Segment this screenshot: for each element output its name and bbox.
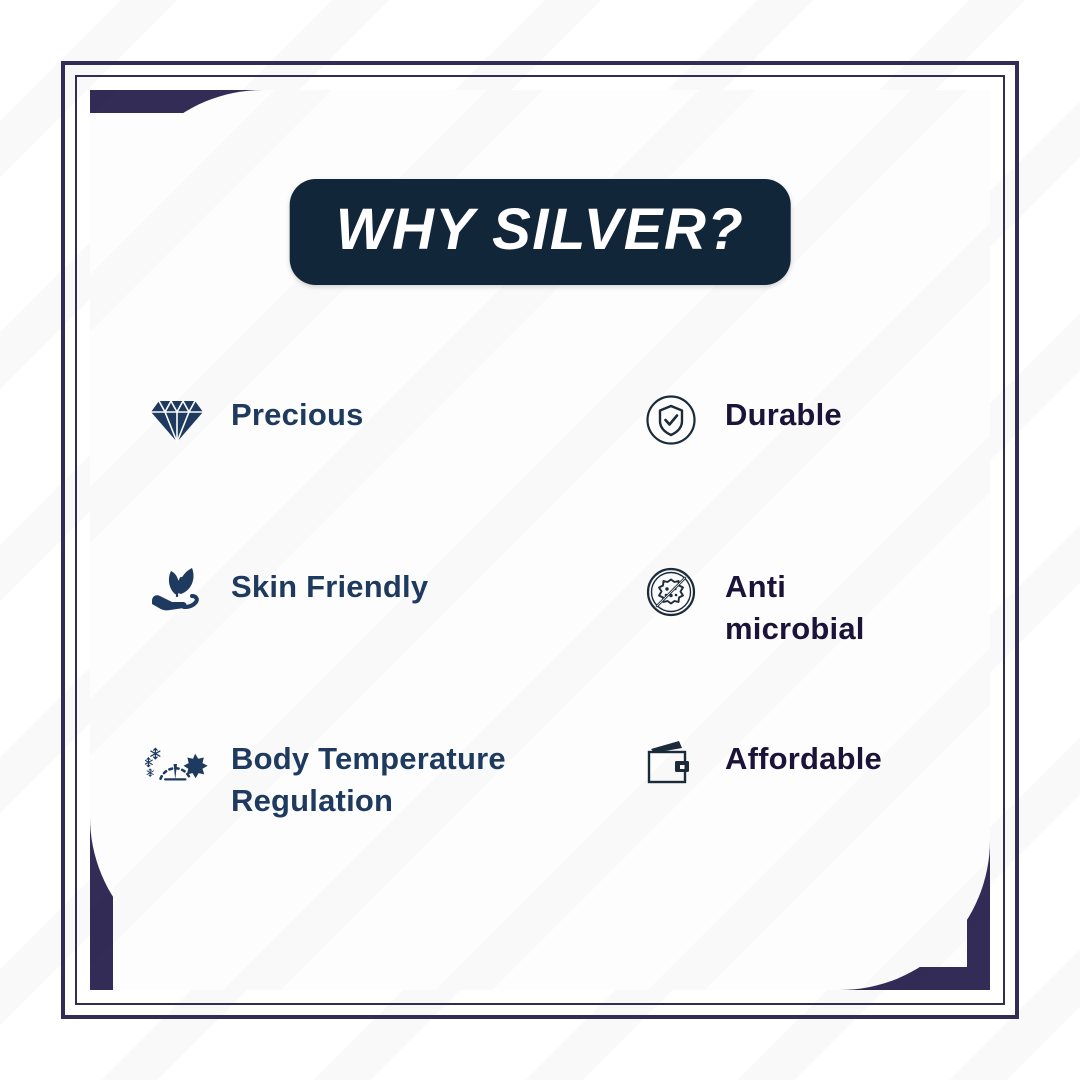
no-germs-icon bbox=[639, 562, 703, 622]
feature-item-body-temperature-regulation: Body Temperature Regulation bbox=[113, 732, 613, 904]
feature-item-anti-microbial: Anti microbial bbox=[613, 560, 967, 732]
feature-grid: Precious Durable bbox=[113, 388, 967, 904]
feature-row: Body Temperature Regulation Affordable bbox=[113, 732, 967, 904]
feature-label: Precious bbox=[231, 394, 364, 436]
shield-check-icon bbox=[639, 390, 703, 450]
page-title: WHY SILVER? bbox=[336, 201, 745, 259]
feature-item-skin-friendly: Skin Friendly bbox=[113, 560, 613, 732]
feature-label: Affordable bbox=[725, 738, 882, 780]
feature-label: Anti microbial bbox=[725, 566, 915, 650]
poster-canvas: WHY SILVER? bbox=[0, 0, 1080, 1080]
feature-row: Skin Friendly bbox=[113, 560, 967, 732]
feature-label: Skin Friendly bbox=[231, 566, 428, 608]
title-badge: WHY SILVER? bbox=[290, 179, 791, 285]
content-stage: WHY SILVER? bbox=[113, 113, 967, 967]
hand-leaf-icon bbox=[145, 562, 209, 622]
feature-row: Precious Durable bbox=[113, 388, 967, 560]
wallet-icon bbox=[639, 734, 703, 794]
feature-label: Durable bbox=[725, 394, 842, 436]
feature-item-durable: Durable bbox=[613, 388, 967, 560]
temperature-gauge-icon bbox=[145, 734, 209, 794]
diamond-icon bbox=[145, 390, 209, 450]
feature-item-precious: Precious bbox=[113, 388, 613, 560]
feature-label: Body Temperature Regulation bbox=[231, 738, 561, 822]
feature-item-affordable: Affordable bbox=[613, 732, 967, 904]
